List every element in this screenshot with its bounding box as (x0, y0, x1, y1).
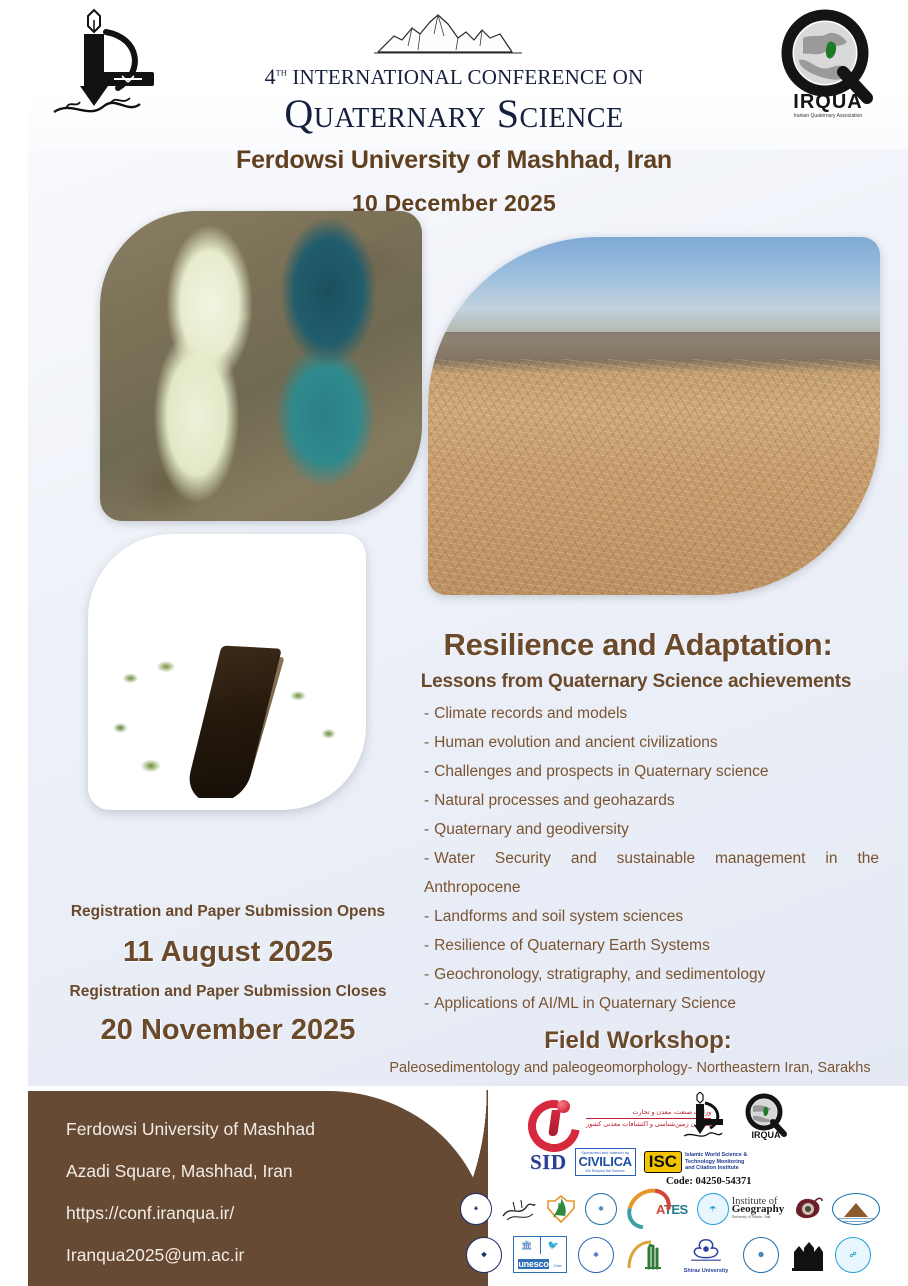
conference-poster: IRQUA Iranian Quaternary Association 4th… (0, 0, 908, 1286)
conference-date: 10 December 2025 (0, 190, 908, 217)
sponsor-row-4: ❖ 🏛 🐦 unesco Chair ⚛ (466, 1236, 871, 1273)
land-subsidence-fissure-photo (100, 546, 354, 798)
sponsor-logos: وزارت صنعت، معدن و تجارت سازمان زمین‌شنا… (450, 1092, 908, 1286)
civilica-logo: Sponsored and Indexed by CIVILICA We Res… (575, 1148, 636, 1176)
iranian-society-seal-icon: ⚛ (578, 1237, 614, 1273)
sponsor-ferdowsi-university (678, 1092, 724, 1140)
theme-title: Resilience and Adaptation: (388, 627, 888, 663)
unesco-sub-label: Chair (553, 1264, 562, 1268)
calligraphy-institute-icon (501, 1196, 537, 1222)
footer-contact-info: Ferdowsi University of Mashhad Azadi Squ… (66, 1108, 466, 1276)
footer-email-link[interactable]: Iranqua2025@um.ac.ir (66, 1234, 466, 1276)
kavir-research-icon (793, 1195, 823, 1223)
unesco-label: unesco (518, 1259, 548, 1269)
footer-institution: Ferdowsi University of Mashhad (66, 1108, 466, 1150)
registration-closes-date: 20 November 2025 (28, 1014, 428, 1047)
dry-playa-photo (428, 237, 880, 595)
topic-item: -Water Security and sustainable manageme… (424, 844, 879, 902)
sponsor-row-3: ⚹ ⚛ AATESTES ☂ (460, 1190, 880, 1228)
topic-item: -Natural processes and geohazards (424, 786, 886, 815)
topic-item: -Climate records and models (424, 699, 886, 728)
field-workshop-description: Paleosedimentology and paleogeomorpholog… (360, 1060, 900, 1076)
unesco-chair-logo: 🏛 🐦 unesco Chair (513, 1236, 567, 1273)
conference-ordinal: 4th (265, 64, 287, 89)
conference-line1: INTERNATIONAL CONFERENCE ON (292, 65, 643, 89)
lake-urmia-satellite-photo (100, 211, 422, 521)
registration-opens-date: 11 August 2025 (28, 936, 428, 969)
sponsor-row-2: SID Sponsored and Indexed by CIVILICA We… (530, 1148, 747, 1176)
svg-text:IRQUA: IRQUA (752, 1130, 782, 1140)
topic-item: -Applications of AI/ML in Quaternary Sci… (424, 989, 886, 1018)
mountain-range-icon (372, 12, 524, 56)
registration-opens-label: Registration and Paper Submission Opens (28, 903, 428, 921)
ates-arc-icon (619, 1180, 678, 1238)
shiraz-university-logo: Shiraz University (680, 1237, 732, 1273)
tarbiat-modares-icon (625, 1238, 669, 1272)
conference-title: Quaternary Science (0, 92, 908, 136)
theme-subtitle: Lessons from Quaternary Science achievem… (378, 671, 894, 693)
kharazmi-university-icon (790, 1238, 824, 1272)
shiraz-university-label: Shiraz University (680, 1268, 732, 1274)
sid-logo: SID (530, 1150, 567, 1175)
topics-list: -Climate records and models -Human evolu… (424, 699, 886, 1018)
geomorphology-association-icon (832, 1193, 880, 1225)
topic-item: -Quaternary and geodiversity (424, 815, 886, 844)
footer-address: Azadi Square, Mashhad, Iran (66, 1150, 466, 1192)
university-seal-icon: ⚛ (585, 1193, 617, 1225)
topic-item: -Geochronology, stratigraphy, and sedime… (424, 960, 886, 989)
university-of-tehran-seal-icon: ☍ (835, 1237, 871, 1273)
academy-seal-icon: ❖ (466, 1237, 502, 1273)
topic-item: -Human evolution and ancient civilizatio… (424, 728, 886, 757)
ates-logo: AATESTES (626, 1190, 688, 1228)
institute-of-geography-label: Institute of Geography University of Teh… (732, 1199, 785, 1220)
unesco-temple-icon: 🏛 (514, 1237, 541, 1254)
sport-science-seal-icon: ⚹ (460, 1193, 492, 1225)
topic-item: -Resilience of Quaternary Earth Systems (424, 931, 886, 960)
conference-ordinal-line: 4th INTERNATIONAL CONFERENCE ON (0, 64, 908, 90)
field-workshop-title: Field Workshop: (380, 1027, 896, 1055)
sponsor-irqua: IRQUA (740, 1092, 792, 1142)
isc-description: Islamic World Science & Technology Monit… (685, 1152, 747, 1171)
conference-venue: Ferdowsi University of Mashhad, Iran (0, 146, 908, 175)
irqua-small-icon: IRQUA (740, 1092, 792, 1142)
footer-website-link[interactable]: https://conf.iranqua.ir/ (66, 1192, 466, 1234)
isfahan-university-seal-icon: ☸ (743, 1237, 779, 1273)
topic-item: -Challenges and prospects in Quaternary … (424, 757, 886, 786)
geological-survey-iran-icon (528, 1096, 582, 1140)
octagram-heritage-icon (546, 1195, 576, 1223)
registration-closes-label: Registration and Paper Submission Closes (28, 983, 428, 1001)
unesco-bird-icon: 🐦 (541, 1237, 567, 1254)
isc-code: Code: 04250-54371 (666, 1176, 751, 1187)
tehran-university-seal-icon: ☂ (697, 1193, 729, 1225)
isc-logo: ISC Islamic World Science & Technology M… (644, 1151, 748, 1173)
ferdowsi-university-small-icon (678, 1092, 724, 1140)
isc-mark: ISC (644, 1151, 682, 1173)
institute-of-geography-logo: ☂ Institute of Geography University of T… (697, 1193, 785, 1225)
topic-item: -Landforms and soil system sciences (424, 902, 886, 931)
